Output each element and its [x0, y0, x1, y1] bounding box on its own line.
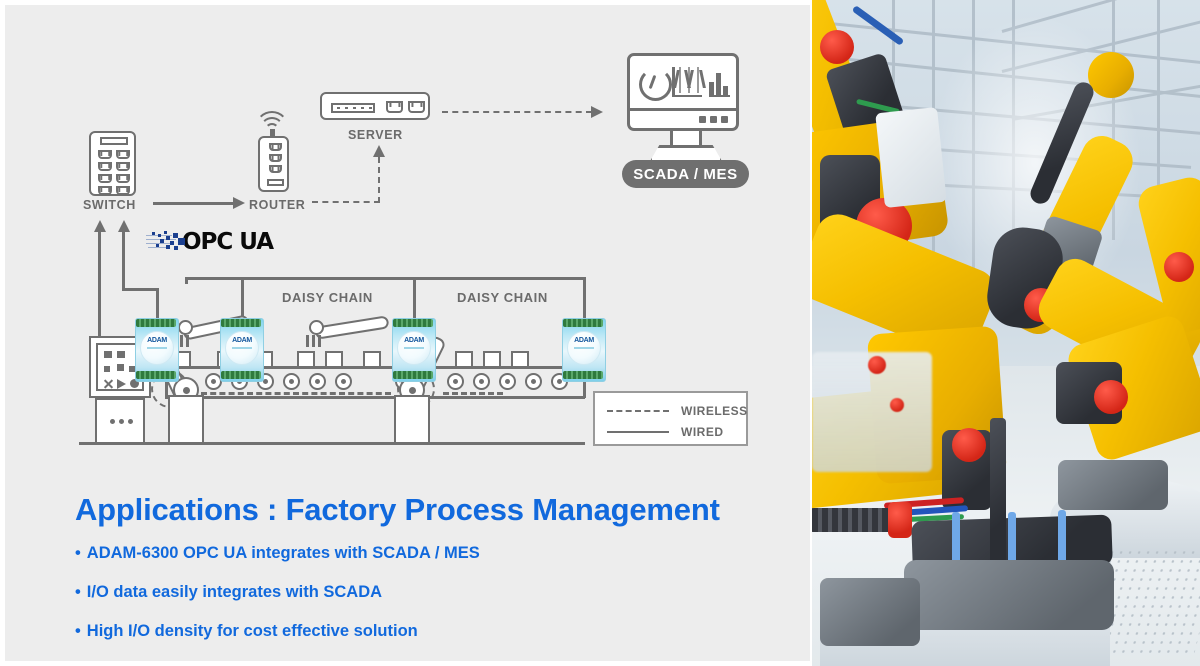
robot-lower-base-plate-left [820, 578, 920, 646]
gauge-chart-icon [639, 68, 672, 101]
opc-ua-wordmark: OPC UA [182, 229, 273, 255]
robot-arm-2-wrist-joint [309, 320, 324, 335]
switch-icon [89, 131, 136, 196]
adam-module: ADAM [392, 318, 434, 380]
legend-row-wired: WIRED [607, 425, 724, 439]
wifi-signal-icon [255, 111, 289, 131]
adam-terminal-top [563, 319, 603, 327]
router-port [269, 143, 282, 151]
robot-arm-2-upper [314, 315, 389, 339]
router-label: ROUTER [249, 198, 305, 212]
adam-module-label: ADAM [568, 337, 600, 344]
adam-module: ADAM [220, 318, 262, 380]
adam-module-face: ADAM [397, 331, 431, 365]
switch-port [98, 174, 112, 183]
server-to-scada-dashed-line [442, 111, 592, 113]
legend-wired-label: WIRED [681, 425, 724, 439]
adam-module-label: ADAM [226, 337, 258, 344]
hmi-pedestal-dots [110, 419, 133, 424]
server-led-bar [331, 103, 375, 113]
wired-line-sample [607, 431, 669, 433]
hmi-button [104, 366, 110, 372]
daisy-chain-bus-1-left-drop [185, 277, 188, 284]
switch-port [98, 150, 112, 159]
conveyor-belt-dashes-2 [443, 392, 503, 395]
robot-lower-base-plate [904, 560, 1114, 630]
switch-port [116, 174, 130, 183]
list-item-text: I/O data easily integrates with SCADA [87, 583, 382, 601]
legend-box: WIRELESS WIRED [593, 391, 748, 446]
hmi-button [117, 364, 124, 371]
daisy-chain-bus-2-top [413, 277, 585, 280]
conveyor-roller [447, 373, 464, 390]
robot-arm-2-column [394, 395, 430, 442]
server-port [386, 101, 403, 113]
switch-led-bar [100, 137, 128, 145]
background-red-valve [868, 356, 886, 374]
router-led-bar [267, 179, 284, 186]
switch-label: SWITCH [83, 198, 136, 212]
list-item-text: High I/O density for cost effective solu… [87, 622, 418, 640]
adam-terminal-top [221, 319, 261, 327]
bullet-marker: • [75, 544, 81, 562]
hmi-button [104, 351, 112, 358]
switch-port [98, 162, 112, 171]
factory-floor-line [79, 442, 585, 445]
adam4-drop-line [583, 277, 586, 320]
page-title: Applications : Factory Process Managemen… [75, 492, 720, 528]
monitor-status-leds [699, 116, 728, 123]
adam2-drop-line [241, 277, 244, 320]
adam-terminal-bottom [393, 371, 433, 379]
daisy-chain-label-right: DAISY CHAIN [457, 290, 548, 305]
switch-port [116, 162, 130, 171]
hmi-button [117, 351, 125, 358]
router-to-server-dashed-vertical [378, 157, 380, 203]
robot-lower-left-red-cap [952, 428, 986, 462]
scada-mes-badge: SCADA / MES [622, 160, 749, 188]
opc-ua-logo: OPC UA [146, 229, 273, 255]
robot-upper-left-red-cap [820, 30, 854, 64]
switch-port [116, 150, 130, 159]
robot-lower-right-base [1058, 460, 1168, 510]
conveyor-roller [525, 373, 542, 390]
legend-wireless-label: WIRELESS [681, 404, 748, 418]
factory-robots-photo [812, 0, 1200, 666]
bar-chart-icon [709, 70, 733, 97]
adam-module-label: ADAM [398, 337, 430, 344]
monitor-stand [670, 131, 702, 147]
switch-port [98, 186, 112, 195]
wireless-line-sample [607, 410, 669, 412]
left-content-panel: SWITCH ROUTER [5, 5, 810, 661]
robot-right-edge-cap [1164, 252, 1194, 282]
conveyor-box [511, 351, 529, 366]
robot-arm-1-column [168, 395, 204, 442]
conveyor-roller [473, 373, 490, 390]
monitor-screen [627, 53, 739, 131]
uplink-line-right-elbow [122, 288, 158, 291]
server-to-scada-arrowhead [591, 106, 603, 118]
robot-center-head [1088, 52, 1134, 98]
slide-root: SWITCH ROUTER [0, 0, 1200, 666]
opc-ua-mark [146, 230, 190, 254]
legend-row-wireless: WIRELESS [607, 404, 748, 418]
robot-lower-right-red-cap [1094, 380, 1128, 414]
network-architecture-diagram: SWITCH ROUTER [5, 5, 810, 475]
robot-arm-1-wrist-joint [178, 320, 193, 335]
cable-tie-3 [1058, 510, 1066, 564]
server-label: SERVER [348, 128, 403, 142]
adam-module-face: ADAM [140, 331, 174, 365]
conveyor-roller [499, 373, 516, 390]
server-port [408, 101, 425, 113]
robot-lower-post [990, 418, 1006, 568]
list-item-text: ADAM-6300 OPC UA integrates with SCADA /… [87, 544, 480, 562]
bullet-marker: • [75, 622, 81, 640]
robot-arm-2-gripper [306, 335, 322, 348]
adam-module-label: ADAM [141, 337, 173, 344]
adam-module: ADAM [135, 318, 177, 380]
switch-to-router-line [153, 202, 235, 205]
daisy-chain-label-left: DAISY CHAIN [282, 290, 373, 305]
adam-terminal-bottom [136, 371, 176, 379]
adam-module-face: ADAM [567, 331, 601, 365]
adam-module: ADAM [562, 318, 604, 380]
close-icon [103, 379, 112, 388]
scada-monitor-icon [627, 53, 739, 159]
conveyor-box [483, 351, 501, 366]
robot-left-white-panel [875, 107, 947, 208]
background-red-valve-2 [890, 398, 904, 412]
conveyor-box [455, 351, 473, 366]
robot-lower-hose-collar [888, 502, 912, 538]
play-icon [117, 379, 126, 389]
daisy-chain-bus-1-top [185, 277, 415, 280]
adam-module-face: ADAM [225, 331, 259, 365]
router-to-server-dashed-horizontal [312, 201, 380, 203]
router-icon [258, 136, 289, 192]
router-to-server-arrowhead [373, 145, 385, 157]
adam-terminal-top [136, 319, 176, 327]
switch-port [116, 186, 130, 195]
list-item: •ADAM-6300 OPC UA integrates with SCADA … [75, 544, 480, 563]
server-icon [320, 92, 430, 120]
adam-terminal-bottom [221, 371, 261, 379]
adam-terminal-bottom [563, 371, 603, 379]
line-chart-icon [672, 67, 702, 97]
router-port [269, 154, 282, 162]
bullet-marker: • [75, 583, 81, 601]
adam-terminal-top [393, 319, 433, 327]
bullet-list: •ADAM-6300 OPC UA integrates with SCADA … [75, 544, 480, 661]
adam3-drop-line [413, 277, 416, 320]
list-item: •High I/O density for cost effective sol… [75, 622, 480, 641]
switch-to-router-arrowhead [233, 197, 245, 209]
uplink-line-right [122, 231, 125, 290]
router-port [269, 165, 282, 173]
list-item: •I/O data easily integrates with SCADA [75, 583, 480, 602]
